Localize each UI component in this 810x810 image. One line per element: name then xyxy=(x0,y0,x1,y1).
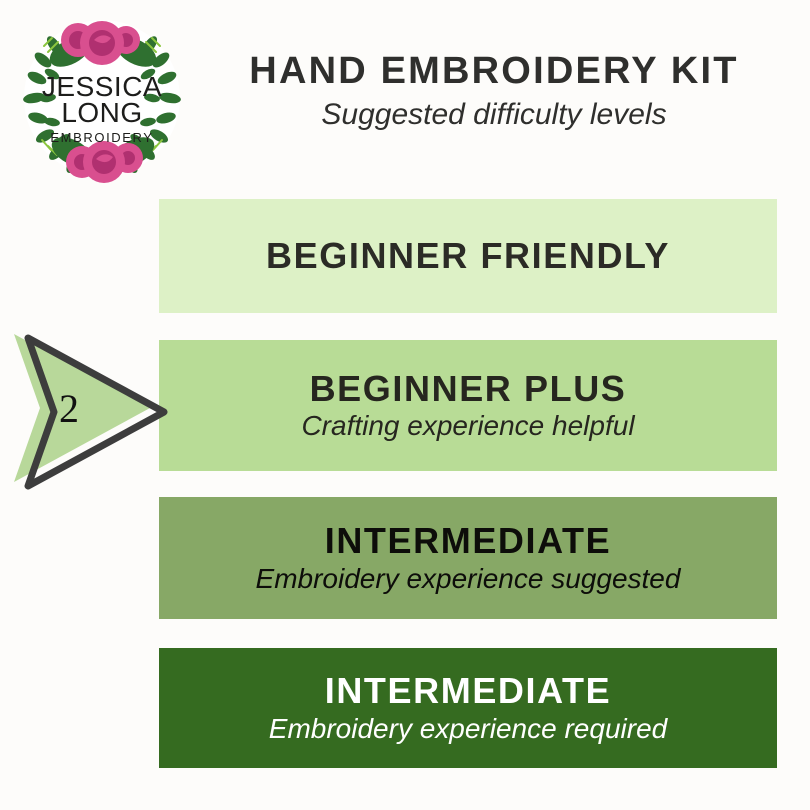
level-title: BEGINNER PLUS xyxy=(310,369,627,409)
brand-logo: JESSICA LONG EMBROIDERY xyxy=(18,12,186,184)
level-title: INTERMEDIATE xyxy=(325,671,612,711)
level-title: INTERMEDIATE xyxy=(325,521,612,561)
level-row-intermediate-suggested[interactable]: INTERMEDIATE Embroidery experience sugge… xyxy=(159,497,777,619)
level-subtitle: Embroidery experience required xyxy=(269,713,667,745)
page-title: HAND EMBROIDERY KIT xyxy=(190,52,798,92)
logo-line-2: LONG xyxy=(61,97,142,128)
level-row-beginner-friendly[interactable]: BEGINNER FRIENDLY xyxy=(159,199,777,313)
level-subtitle: Crafting experience helpful xyxy=(301,410,634,442)
level-row-beginner-plus[interactable]: BEGINNER PLUS Crafting experience helpfu… xyxy=(159,340,777,471)
level-subtitle: Embroidery experience suggested xyxy=(256,563,681,595)
logo-line-3: EMBROIDERY xyxy=(50,130,153,145)
selected-level-marker: 2 xyxy=(6,326,172,490)
difficulty-levels-infographic: JESSICA LONG EMBROIDERY HAND EMBROIDERY … xyxy=(0,0,810,810)
header: HAND EMBROIDERY KIT Suggested difficulty… xyxy=(190,52,798,132)
page-subtitle: Suggested difficulty levels xyxy=(190,98,798,133)
level-title: BEGINNER FRIENDLY xyxy=(266,236,670,276)
level-row-intermediate-required[interactable]: INTERMEDIATE Embroidery experience requi… xyxy=(159,648,777,768)
